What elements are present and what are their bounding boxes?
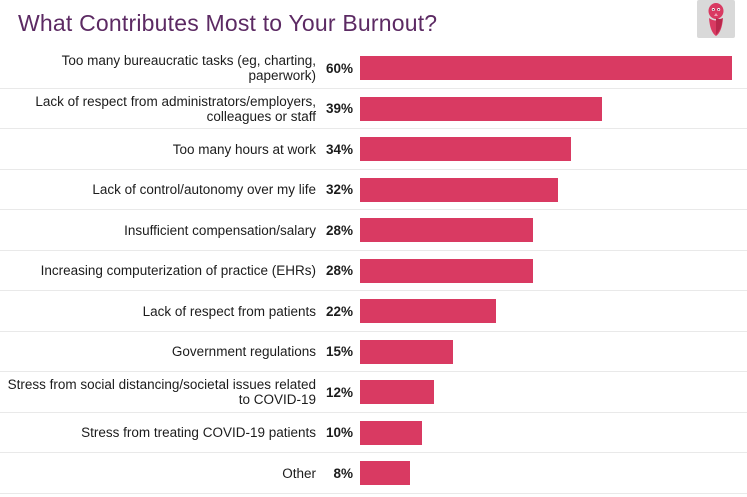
bar: [360, 421, 422, 445]
bar: [360, 299, 496, 323]
category-label: Lack of control/autonomy over my life: [0, 182, 316, 197]
bar: [360, 137, 571, 161]
category-label: Stress from treating COVID-19 patients: [0, 425, 316, 440]
bar: [360, 218, 533, 242]
bar-row: Lack of respect from patients22%: [0, 291, 747, 331]
bar-row: Too many hours at work34%: [0, 129, 747, 169]
bar-row: Stress from social distancing/societal i…: [0, 372, 747, 412]
value-label: 12%: [316, 385, 360, 400]
bar: [360, 461, 410, 485]
bar: [360, 259, 533, 283]
medscape-logo: [693, 0, 739, 40]
bar: [360, 380, 434, 404]
chart-page: What Contributes Most to Your Burnout? T…: [0, 0, 747, 497]
category-label: Government regulations: [0, 344, 316, 359]
category-label: Too many bureaucratic tasks (eg, chartin…: [0, 53, 316, 83]
bar-row: Lack of control/autonomy over my life32%: [0, 170, 747, 210]
bar-track: [360, 413, 747, 453]
category-label: Too many hours at work: [0, 142, 316, 157]
category-label: Insufficient compensation/salary: [0, 223, 316, 238]
bar-track: [360, 48, 747, 88]
bar-row: Lack of respect from administrators/empl…: [0, 89, 747, 129]
bar-track: [360, 332, 747, 372]
category-label: Lack of respect from patients: [0, 304, 316, 319]
category-label: Increasing computerization of practice (…: [0, 263, 316, 278]
bar: [360, 340, 453, 364]
value-label: 60%: [316, 61, 360, 76]
bird-icon: [703, 2, 729, 36]
bar-row: Other8%: [0, 453, 747, 493]
bar-row: Increasing computerization of practice (…: [0, 251, 747, 291]
bar: [360, 56, 732, 80]
bar-row: Insufficient compensation/salary28%: [0, 210, 747, 250]
bar-row: Stress from treating COVID-19 patients10…: [0, 413, 747, 453]
bar-track: [360, 291, 747, 331]
bar-track: [360, 372, 747, 412]
row-divider: [0, 493, 747, 494]
value-label: 8%: [316, 466, 360, 481]
value-label: 10%: [316, 425, 360, 440]
page-title: What Contributes Most to Your Burnout?: [18, 10, 437, 37]
bar: [360, 178, 558, 202]
bar-track: [360, 89, 747, 129]
bar-row: Too many bureaucratic tasks (eg, chartin…: [0, 48, 747, 88]
bar-track: [360, 251, 747, 291]
category-label: Other: [0, 466, 316, 481]
category-label: Lack of respect from administrators/empl…: [0, 94, 316, 124]
bar-track: [360, 170, 747, 210]
bar: [360, 97, 602, 121]
bar-track: [360, 210, 747, 250]
value-label: 15%: [316, 344, 360, 359]
value-label: 22%: [316, 304, 360, 319]
value-label: 28%: [316, 223, 360, 238]
value-label: 34%: [316, 142, 360, 157]
category-label: Stress from social distancing/societal i…: [0, 377, 316, 407]
bar-chart: Too many bureaucratic tasks (eg, chartin…: [0, 48, 747, 497]
value-label: 39%: [316, 101, 360, 116]
bar-track: [360, 453, 747, 493]
value-label: 28%: [316, 263, 360, 278]
bar-track: [360, 129, 747, 169]
value-label: 32%: [316, 182, 360, 197]
bar-row: Government regulations15%: [0, 332, 747, 372]
